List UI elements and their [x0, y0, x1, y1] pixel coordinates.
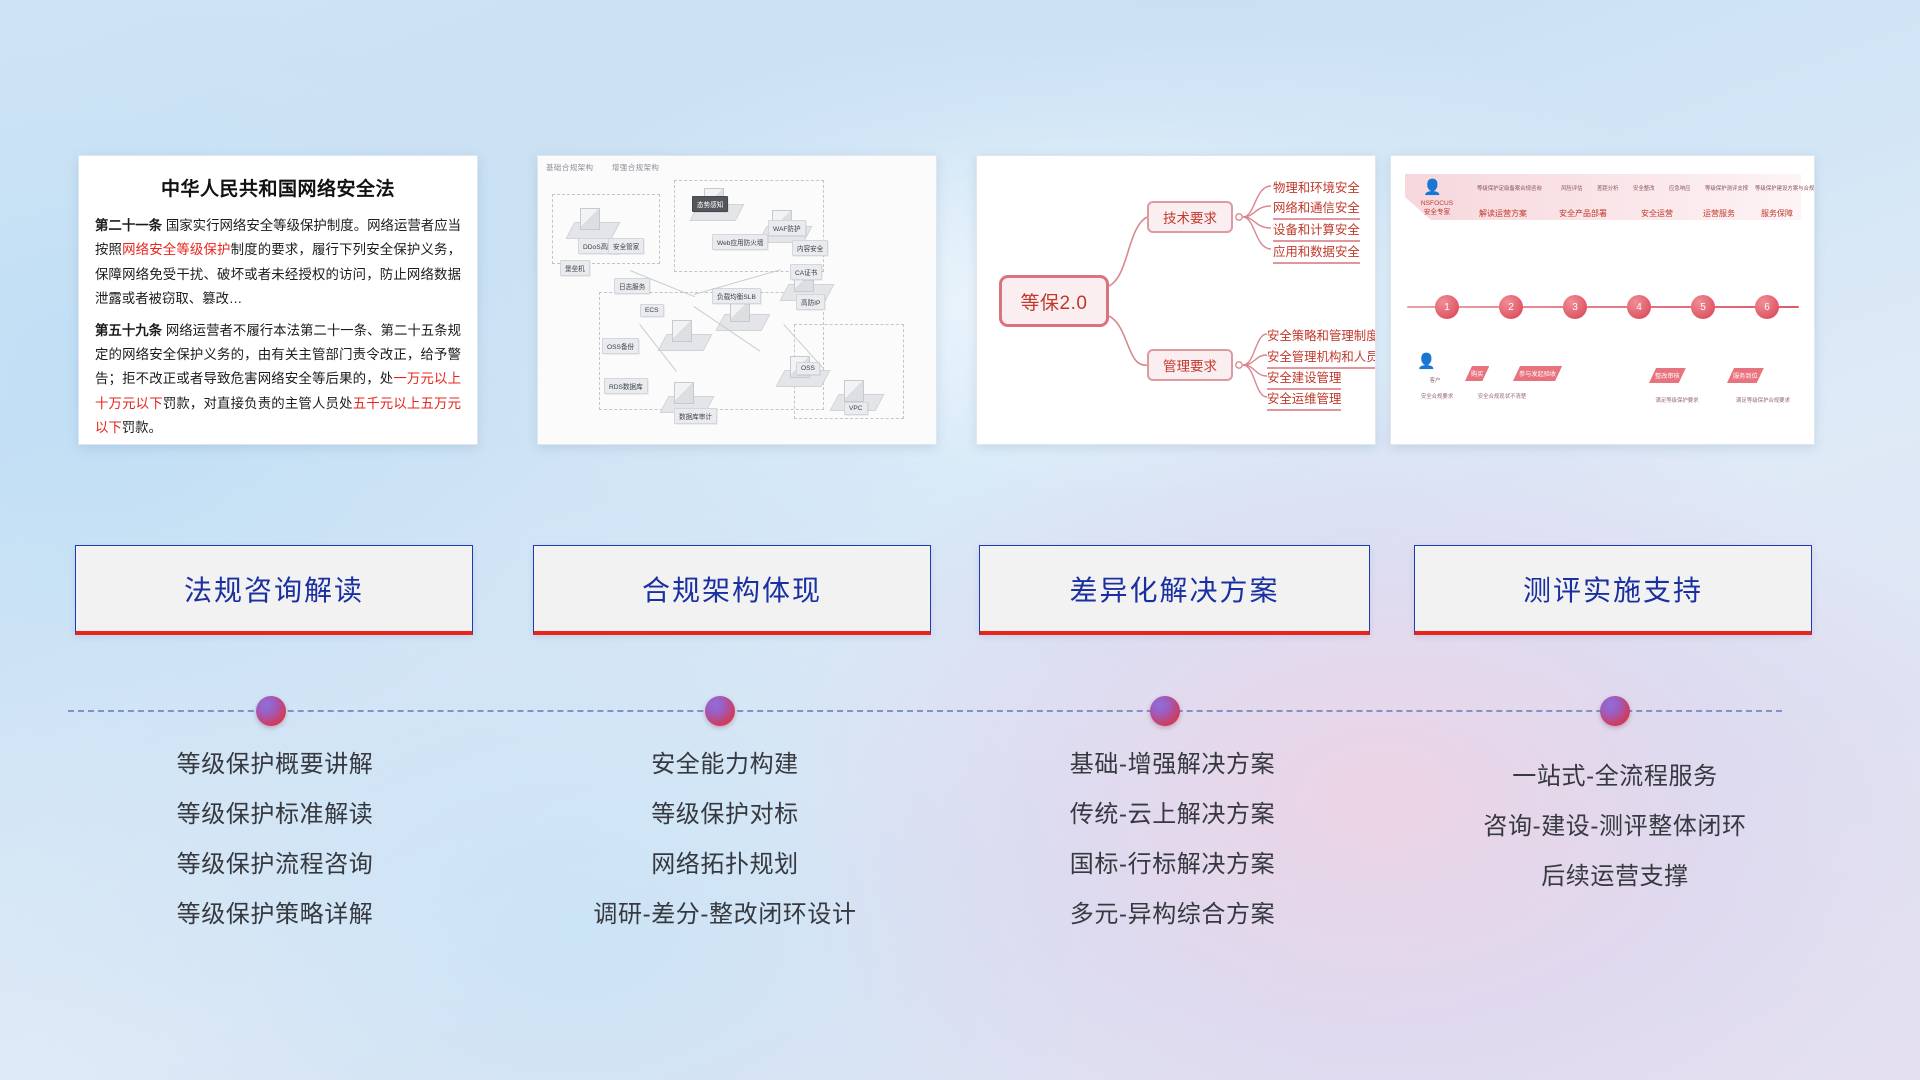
law-title: 中华人民共和国网络安全法: [95, 174, 461, 201]
list-item: 调研-差分-整改闭环设计: [525, 890, 925, 940]
list-item: 等级保护流程咨询: [75, 840, 475, 890]
nsfocus-band-tag-7: 等级保护建设方案与合规落地服务: [1755, 184, 1815, 192]
arch-database-icon: [674, 382, 694, 404]
nsfocus-band-tag-2: 风险评估: [1561, 184, 1583, 192]
timeline-track: [0, 690, 1920, 732]
nsfocus-chip-4: 服务到位: [1727, 368, 1764, 383]
law-article-21: 第二十一条 国家实行网络安全等级保护制度。网络运营者应当按照网络安全等级保护制度…: [95, 214, 461, 312]
nsfocus-step-4: 4: [1627, 295, 1651, 319]
mindmap-leaf-mgmt-4: 安全运维管理: [1267, 389, 1341, 411]
card-nsfocus-timeline[interactable]: 👤 NSFOCUS 安全专家 等级保护定级备案合规咨询 风险评估 差距分析 安全…: [1390, 155, 1815, 445]
section-list-2: 安全能力构建 等级保护对标 网络拓扑规划 调研-差分-整改闭环设计: [525, 740, 925, 940]
list-item: 一站式-全流程服务: [1405, 752, 1825, 802]
arch-node-label-9: 负载均衡SLB: [712, 288, 761, 304]
mindmap-leaf-tech-2: 网络和通信安全: [1273, 198, 1360, 220]
architecture-header-left: 基础合规架构: [546, 163, 593, 172]
timeline-node-4[interactable]: [1600, 696, 1630, 726]
arch-node-label-2: 堡垒机: [560, 260, 590, 276]
list-item: 后续运营支撑: [1405, 852, 1825, 902]
arch-server-icon-1: [580, 208, 600, 230]
nsfocus-band-tag-5: 应急响应: [1669, 184, 1691, 192]
nsfocus-logo-line1: NSFOCUS: [1411, 200, 1463, 209]
nsfocus-phase-5: 服务保障: [1761, 208, 1793, 219]
timeline-node-2[interactable]: [705, 696, 735, 726]
arch-node-label-15: VPC: [844, 402, 868, 415]
nsfocus-diagram: 👤 NSFOCUS 安全专家 等级保护定级备案合规咨询 风险评估 差距分析 安全…: [1391, 156, 1814, 444]
nsfocus-step-3: 3: [1563, 295, 1587, 319]
mindmap-leaf-mgmt-1: 安全策略和管理制度: [1267, 326, 1376, 346]
arch-node-label-3: 安全管家: [608, 238, 644, 254]
nsfocus-footer-small-4: 满足等级保护要求: [1641, 396, 1713, 404]
list-item: 多元-异构综合方案: [965, 890, 1380, 940]
section-title-label-2: 合规架构体现: [642, 569, 822, 609]
nsfocus-phase-3: 安全运营: [1641, 208, 1673, 219]
section-item-lists: 等级保护概要讲解 等级保护标准解读 等级保护流程咨询 等级保护策略详解 安全能力…: [0, 740, 1920, 970]
nsfocus-chip-1: 购买: [1465, 366, 1489, 381]
nsfocus-customer-label: 客户: [1415, 376, 1455, 384]
list-item: 等级保护标准解读: [75, 790, 475, 840]
list-item: 国标-行标解决方案: [965, 840, 1380, 890]
arch-node-label-8: ECS: [640, 304, 664, 317]
article-59-post: 罚款。: [122, 420, 162, 435]
section-title-box-1[interactable]: 法规咨询解读: [75, 545, 473, 635]
timeline-dashed-line: [68, 710, 1782, 712]
nsfocus-phase-1: 解读运营方案: [1479, 208, 1527, 219]
arch-server-icon-4: [672, 320, 692, 342]
mindmap-leaf-tech-4: 应用和数据安全: [1273, 242, 1360, 264]
section-title-box-3[interactable]: 差异化解决方案: [979, 545, 1370, 635]
mindmap: 等保2.0 技术要求 管理要求 物理和环境安全 网络和通信安全 设备和计算安全: [977, 156, 1375, 444]
card-cybersecurity-law[interactable]: 中华人民共和国网络安全法 第二十一条 国家实行网络安全等级保护制度。网络运营者应…: [78, 155, 478, 445]
list-item: 咨询-建设-测评整体闭环: [1405, 802, 1825, 852]
preview-cards-row: 中华人民共和国网络安全法 第二十一条 国家实行网络安全等级保护制度。网络运营者应…: [0, 155, 1920, 447]
nsfocus-logo: NSFOCUS 安全专家: [1411, 200, 1463, 218]
architecture-header-right: 增强合规架构: [612, 163, 659, 172]
arch-node-label-11: 高防IP: [796, 294, 825, 310]
section-list-4: 一站式-全流程服务 咨询-建设-测评整体闭环 后续运营支撑: [1405, 752, 1825, 902]
nsfocus-chip-2: 参与发起验收: [1513, 366, 1562, 381]
section-title-box-4[interactable]: 测评实施支持: [1414, 545, 1812, 635]
nsfocus-step-1: 1: [1435, 295, 1459, 319]
list-item: 传统-云上解决方案: [965, 790, 1380, 840]
law-article-59: 第五十九条 网络运营者不履行本法第二十一条、第二十五条规定的网络安全保护义务的，…: [95, 319, 461, 441]
arch-server-icon-8: [844, 380, 864, 402]
card-dengbao-mindmap[interactable]: 等保2.0 技术要求 管理要求 物理和环境安全 网络和通信安全 设备和计算安全: [976, 155, 1376, 445]
architecture-diagram: 基础合规架构 增强合规架构: [538, 156, 936, 444]
nsfocus-footer-small-2: 安全合规要求: [1407, 392, 1467, 400]
mindmap-leaf-mgmt-2: 安全管理机构和人员: [1267, 347, 1376, 369]
section-list-1: 等级保护概要讲解 等级保护标准解读 等级保护流程咨询 等级保护策略详解: [75, 740, 475, 940]
list-item: 基础-增强解决方案: [965, 740, 1380, 790]
section-titles-row: 法规咨询解读 合规架构体现 差异化解决方案 测评实施支持: [0, 545, 1920, 635]
nsfocus-band-tag-3: 差距分析: [1597, 184, 1619, 192]
mindmap-leaf-mgmt-3: 安全建设管理: [1267, 368, 1341, 390]
timeline-node-1[interactable]: [256, 696, 286, 726]
section-title-box-2[interactable]: 合规架构体现: [533, 545, 931, 635]
mindmap-branch-technical: 技术要求: [1147, 201, 1233, 233]
list-item: 等级保护策略详解: [75, 890, 475, 940]
nsfocus-axis: [1407, 306, 1799, 308]
article-59-mid: 罚款，对直接负责的主管人员处: [163, 396, 353, 411]
list-item: 等级保护对标: [525, 790, 925, 840]
article-59-label: 第五十九条: [95, 323, 162, 338]
architecture-canvas: 态势感知 DDoS高防 堡垒机 安全管家 WAF防护 内容安全 Web应用防火墙…: [544, 174, 930, 438]
mindmap-leaf-tech-1: 物理和环境安全: [1273, 178, 1360, 198]
list-item: 安全能力构建: [525, 740, 925, 790]
arch-node-label-13: RDS数据库: [604, 378, 648, 394]
arch-node-label-6: Web应用防火墙: [712, 234, 768, 250]
nsfocus-footer-small-3: 安全合规现状不清楚: [1467, 392, 1537, 400]
nsfocus-logo-line2: 安全专家: [1411, 209, 1463, 218]
mindmap-leaf-tech-3: 设备和计算安全: [1273, 220, 1360, 242]
nsfocus-step-5: 5: [1691, 295, 1715, 319]
nsfocus-band-tag-4: 安全整改: [1633, 184, 1655, 192]
nsfocus-phase-2: 安全产品部署: [1559, 208, 1607, 219]
arch-node-label-16: 数据库审计: [674, 408, 717, 424]
customer-person-icon: 👤: [1417, 352, 1436, 370]
arch-node-label-5: 内容安全: [792, 240, 828, 256]
card-compliance-architecture[interactable]: 基础合规架构 增强合规架构: [537, 155, 937, 445]
nsfocus-step-6: 6: [1755, 295, 1779, 319]
section-list-3: 基础-增强解决方案 传统-云上解决方案 国标-行标解决方案 多元-异构综合方案: [965, 740, 1380, 940]
mindmap-branch-management: 管理要求: [1147, 349, 1233, 381]
section-title-label-1: 法规咨询解读: [184, 569, 364, 609]
nsfocus-chip-3: 整改审核: [1649, 368, 1686, 383]
arch-node-label-0: 态势感知: [692, 196, 728, 212]
section-title-label-3: 差异化解决方案: [1069, 569, 1279, 609]
architecture-header: 基础合规架构 增强合规架构: [546, 162, 675, 173]
arch-node-label-7: 日志服务: [614, 278, 650, 294]
list-item: 等级保护概要讲解: [75, 740, 475, 790]
arch-node-label-12: OSS备份: [602, 338, 639, 354]
law-document: 中华人民共和国网络安全法 第二十一条 国家实行网络安全等级保护制度。网络运营者应…: [79, 156, 477, 445]
article-21-highlight: 网络安全等级保护: [122, 242, 231, 257]
nsfocus-footer-small-5: 满足等级保护合规要求: [1723, 396, 1803, 404]
nsfocus-step-2: 2: [1499, 295, 1523, 319]
arch-node-label-4: WAF防护: [768, 220, 806, 236]
arch-node-label-10: CA证书: [790, 264, 822, 280]
nsfocus-phase-4: 运营服务: [1703, 208, 1735, 219]
nsfocus-band-tag-6: 等级保护测评支撑: [1705, 184, 1748, 192]
arch-node-label-14: OSS: [796, 362, 820, 375]
timeline-node-3[interactable]: [1150, 696, 1180, 726]
list-item: 网络拓扑规划: [525, 840, 925, 890]
article-21-label: 第二十一条: [95, 218, 162, 233]
expert-person-icon: 👤: [1423, 178, 1442, 196]
nsfocus-band-tag-1: 等级保护定级备案合规咨询: [1477, 184, 1542, 192]
section-title-label-4: 测评实施支持: [1523, 569, 1703, 609]
